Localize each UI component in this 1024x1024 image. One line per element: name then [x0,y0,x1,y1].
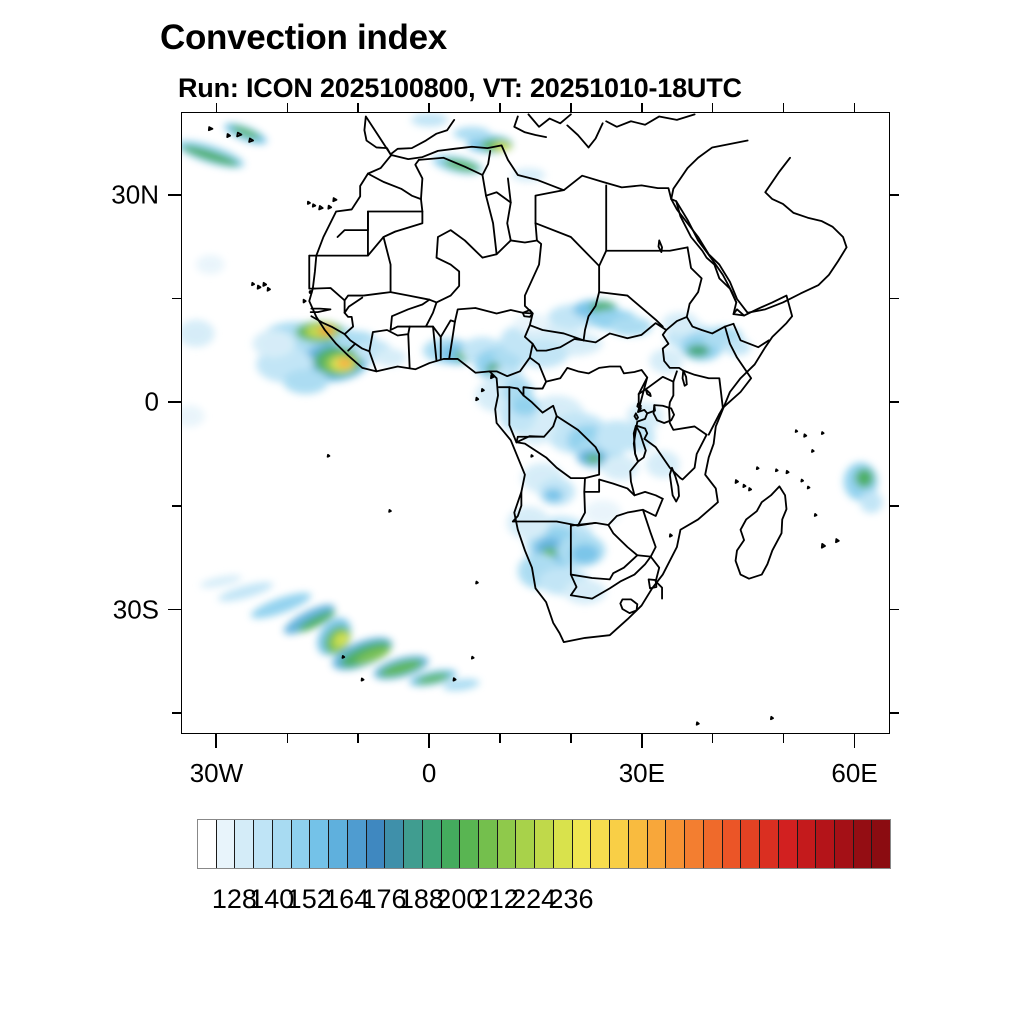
x-tick-major [641,734,643,748]
colorbar-cell [760,820,779,868]
page-title: Convection index [160,18,447,58]
y-tick-major [168,194,181,196]
x-tick-minor-top [783,103,785,112]
x-tick-minor-top [287,103,289,112]
x-axis-label: 30E [619,758,665,789]
x-axis-label: 0 [422,758,436,789]
colorbar-cell [854,820,873,868]
colorbar-cell [516,820,535,868]
colorbar-cell [310,820,329,868]
x-tick-minor [783,734,785,743]
colorbar-cell [685,820,704,868]
colorbar-cell [498,820,517,868]
x-tick-minor-top [357,103,359,112]
x-tick-major [428,734,430,748]
colorbar-cell [442,820,461,868]
colorbar-cell [348,820,367,868]
x-tick-minor [712,734,714,743]
x-tick-minor-top [570,103,572,112]
colorbar-cell [591,820,610,868]
colorbar-cell [554,820,573,868]
colorbar-cell [329,820,348,868]
colorbar-cell [666,820,685,868]
colorbar-cell [723,820,742,868]
y-tick-minor-right [890,505,899,507]
colorbar-cell [704,820,723,868]
colorbar-cell [273,820,292,868]
x-tick-minor [570,734,572,743]
colorbar[interactable] [197,819,891,869]
y-tick-minor-right [890,298,899,300]
colorbar-cell [629,820,648,868]
x-tick-minor [357,734,359,743]
colorbar-cell [292,820,311,868]
x-axis-label: 30W [190,758,243,789]
y-axis-label: 0 [0,387,159,418]
colorbar-cell [610,820,629,868]
y-axis-label: 30N [0,179,159,210]
x-tick-minor-top [712,103,714,112]
x-axis-label: 60E [831,758,877,789]
y-tick-minor [172,712,181,714]
y-axis-label: 30S [0,594,159,625]
y-tick-major [168,609,181,611]
colorbar-cell [872,820,890,868]
x-tick-major [854,734,856,748]
colorbar-cell [573,820,592,868]
x-tick-top [854,103,856,112]
colorbar-cell [367,820,386,868]
x-tick-minor [499,734,501,743]
colorbar-cell [648,820,667,868]
colorbar-cell [254,820,273,868]
x-tick-top [216,103,218,112]
y-tick-right [890,194,899,196]
colorbar-cell [741,820,760,868]
page-subtitle: Run: ICON 2025100800, VT: 20251010-18UTC [178,73,742,104]
y-tick-minor [172,298,181,300]
colorbar-cell [423,820,442,868]
colorbar-tick-label: 236 [549,884,594,915]
colorbar-cell [816,820,835,868]
y-tick-right [890,401,899,403]
colorbar-cell [798,820,817,868]
colorbar-cell [404,820,423,868]
colorbar-cell [779,820,798,868]
colorbar-cell [460,820,479,868]
x-tick-minor [287,734,289,743]
colorbar-cell [835,820,854,868]
colorbar-cell [235,820,254,868]
colorbar-cell [385,820,404,868]
colorbar-cell [217,820,236,868]
colorbar-cell [198,820,217,868]
x-tick-minor-top [499,103,501,112]
y-tick-minor [172,505,181,507]
y-tick-major [168,401,181,403]
colorbar-cell [535,820,554,868]
y-tick-right [890,609,899,611]
x-tick-top [641,103,643,112]
x-tick-top [428,103,430,112]
colorbar-cell [479,820,498,868]
africa-convection-map [182,113,889,733]
map-plot-area[interactable] [181,112,890,734]
x-tick-major [215,734,217,748]
y-tick-minor-right [890,712,899,714]
